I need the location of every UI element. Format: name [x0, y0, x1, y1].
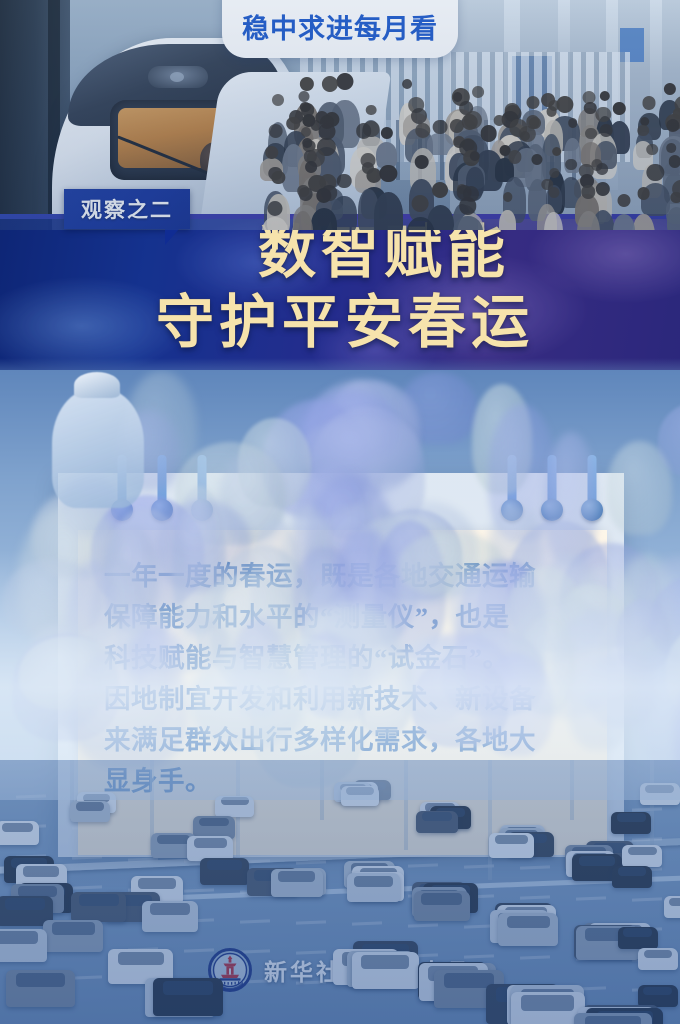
headline-line-1: 数智赋能 [0, 224, 680, 282]
highway-traffic-photo [0, 760, 680, 1024]
officer-cap [74, 372, 120, 398]
headline-line-2: 守护平安春运 [0, 294, 680, 352]
headline: 数智赋能 守护平安春运 [0, 224, 680, 352]
police-officer [52, 388, 144, 508]
train-platform-crowd-photo [0, 0, 680, 230]
blue-tinted-crowd-photo [0, 370, 680, 800]
poster-root: 观察之二 数智赋能 守护平安春运 一年一度的春运，既是各地交通运输 保障能力和水… [0, 0, 680, 1024]
crowd-figure [607, 441, 671, 535]
photo-tint [0, 760, 680, 1024]
section-tag-pointer [165, 229, 179, 245]
photo-tint [0, 0, 680, 230]
